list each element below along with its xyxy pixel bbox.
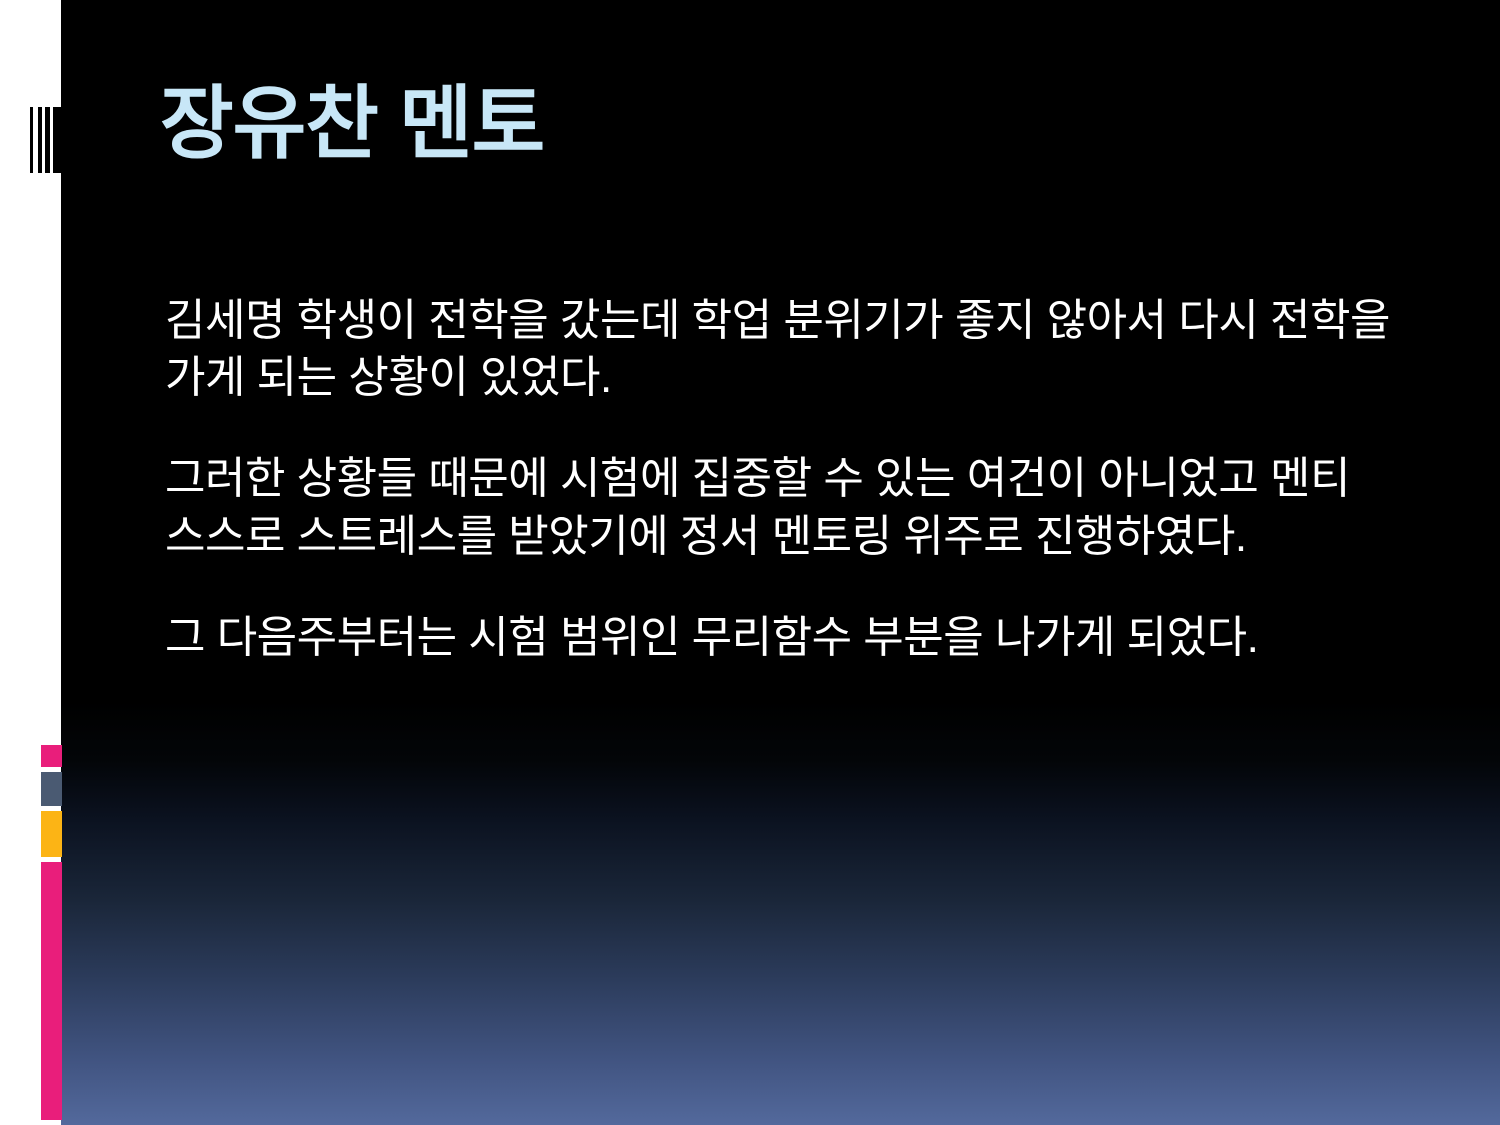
slide-content: 장유찬 멘토 김세명 학생이 전학을 갔는데 학업 분위기가 좋지 않아서 다시… [160, 0, 1450, 1125]
color-chip-pink-large [41, 862, 62, 1120]
paragraph-spacer-1 [165, 406, 1425, 450]
barcode-decoration-icon [30, 107, 62, 173]
color-chip-pink-small [41, 745, 62, 767]
paragraph-spacer-2 [165, 565, 1425, 609]
slide-body: 김세명 학생이 전학을 갔는데 학업 분위기가 좋지 않아서 다시 전학을 가게… [165, 292, 1425, 666]
color-chip-slate [41, 772, 62, 806]
barcode-bar-2 [38, 107, 42, 173]
barcode-bar-4 [53, 107, 62, 173]
body-paragraph-2: 그러한 상황들 때문에 시험에 집중할 수 있는 여건이 아니었고 멘티 스스로… [165, 450, 1427, 564]
color-chip-stack [41, 745, 62, 1120]
slide-title: 장유찬 멘토 [160, 84, 544, 164]
presentation-slide: 장유찬 멘토 김세명 학생이 전학을 갔는데 학업 분위기가 좋지 않아서 다시… [0, 0, 1500, 1125]
body-paragraph-1: 김세명 학생이 전학을 갔는데 학업 분위기가 좋지 않아서 다시 전학을 가게… [165, 292, 1420, 406]
barcode-bar-3 [45, 107, 50, 173]
color-chip-amber [41, 811, 62, 857]
barcode-bar-1 [30, 107, 33, 173]
body-paragraph-3: 그 다음주부터는 시험 범위인 무리함수 부분을 나가게 되었다. [165, 609, 1427, 666]
